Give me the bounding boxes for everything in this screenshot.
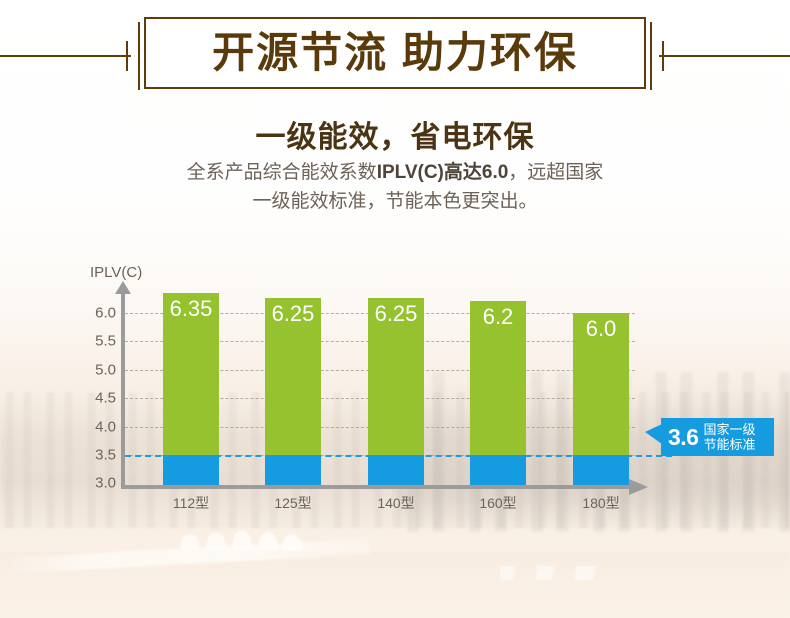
bar-value-label: 6.25 (368, 303, 424, 325)
bar-segment-green: 6.0 (573, 313, 629, 455)
x-tick-label-140: 140型 (351, 493, 441, 513)
promo-page: 开源节流 助力环保 一级能效，省电环保 全系产品综合能效系数IPLV(C)高达6… (0, 0, 790, 618)
bar-segment-green: 6.25 (368, 298, 424, 455)
badge-value: 3.6 (668, 426, 698, 449)
bar-value-label: 6.35 (163, 298, 219, 320)
badge-label: 国家一级 节能标准 (703, 422, 755, 453)
reference-line-3.6 (125, 455, 672, 457)
bar-160[interactable]: 6.2 (470, 301, 526, 485)
badge-label-line1: 国家一级 (703, 422, 755, 437)
bar-value-label: 6.2 (470, 306, 526, 328)
bar-segment-blue (368, 455, 424, 485)
bar-segment-green: 6.25 (265, 298, 321, 455)
x-tick-label-112: 112型 (146, 493, 236, 513)
bar-value-label: 6.25 (265, 303, 321, 325)
bar-group: 6.35 6.25 6.25 6.2 (0, 0, 790, 618)
bar-value-label: 6.0 (573, 318, 629, 340)
badge-label-line2: 节能标准 (703, 437, 755, 452)
bar-segment-blue (573, 455, 629, 485)
x-tick-label-180: 180型 (556, 493, 646, 513)
bar-segment-blue (470, 455, 526, 485)
efficiency-bar-chart: IPLV(C) 6.0 5.5 5.0 4.5 4.0 3.5 3.0 6.35 (0, 0, 790, 618)
x-tick-label-125: 125型 (248, 493, 338, 513)
national-standard-badge: 3.6 国家一级 节能标准 (661, 418, 774, 456)
badge-pointer-icon (645, 424, 662, 444)
bar-segment-blue (265, 455, 321, 485)
bar-segment-blue (163, 455, 219, 485)
bar-segment-green: 6.2 (470, 301, 526, 455)
x-tick-label-160: 160型 (453, 493, 543, 513)
bar-180[interactable]: 6.0 (573, 313, 629, 485)
bar-segment-green: 6.35 (163, 293, 219, 455)
